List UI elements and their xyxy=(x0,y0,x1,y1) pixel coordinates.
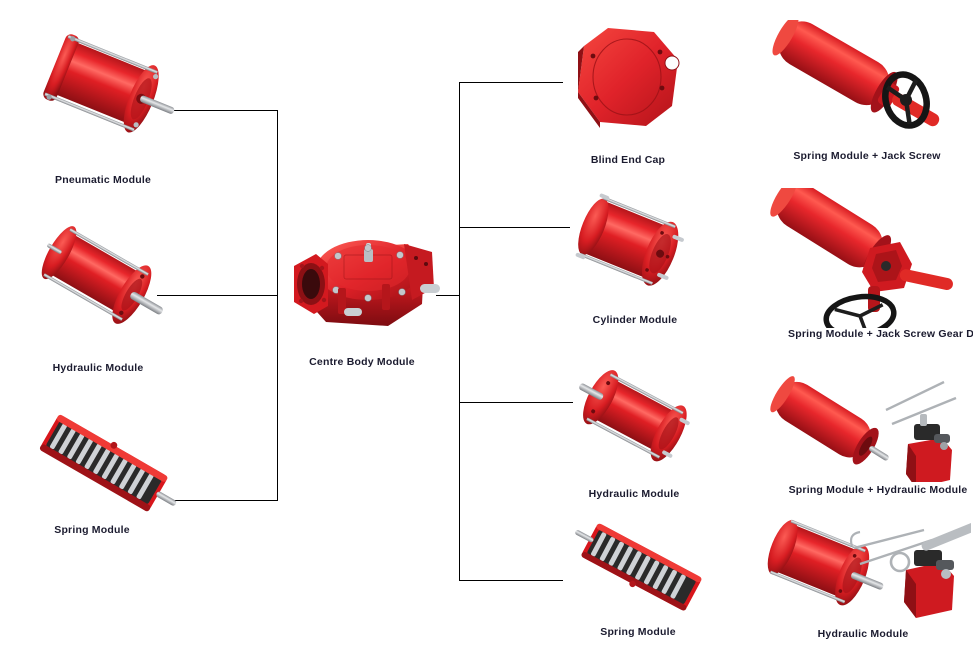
tube-gear-handwheel-icon xyxy=(752,188,962,328)
caption-spring-module-jack-screw: Spring Module + Jack Screw xyxy=(782,150,952,162)
spring-cartridge-icon xyxy=(26,410,186,520)
cylinder-hand-pump-icon xyxy=(756,506,971,624)
caption-hydraulic-module-right: Hydraulic Module xyxy=(778,628,948,640)
caption-spring-module-left: Spring Module xyxy=(12,524,172,536)
component-spring-module-jack-screw-gear-drive[interactable]: Spring Module + Jack Screw Gear Drive xyxy=(752,188,962,328)
right-branch-hydraulic xyxy=(459,402,573,403)
tube-hand-pump-icon xyxy=(758,372,968,482)
component-pneumatic-module[interactable]: Pneumatic Module xyxy=(28,22,178,162)
spring-cartridge-icon xyxy=(566,518,716,618)
cylinder-tierod-angled-icon xyxy=(28,22,178,162)
component-hydraulic-module-left[interactable]: Hydraulic Module xyxy=(26,216,176,346)
component-spring-module-left[interactable]: Spring Module xyxy=(26,410,186,520)
caption-centre-body-module: Centre Body Module xyxy=(277,356,447,368)
component-spring-module-mid[interactable]: Spring Module xyxy=(566,518,716,618)
caption-spring-module-jack-screw-gear-drive: Spring Module + Jack Screw Gear Drive xyxy=(788,328,968,340)
left-spine xyxy=(277,110,278,501)
component-blind-end-cap[interactable]: Blind End Cap xyxy=(562,18,692,143)
component-centre-body-module[interactable]: Centre Body Module xyxy=(282,222,442,352)
component-spring-module-jack-screw[interactable]: Spring Module + Jack Screw xyxy=(752,20,952,148)
left-branch-pneumatic xyxy=(171,110,278,111)
caption-hydraulic-module-left: Hydraulic Module xyxy=(18,362,178,374)
caption-blind-end-cap: Blind End Cap xyxy=(558,154,698,166)
right-spine xyxy=(459,82,460,581)
component-hydraulic-module-right[interactable]: Hydraulic Module xyxy=(756,506,971,624)
caption-cylinder-module: Cylinder Module xyxy=(570,314,700,326)
caption-pneumatic-module: Pneumatic Module xyxy=(23,174,183,186)
caption-hydraulic-module-mid: Hydraulic Module xyxy=(564,488,704,500)
right-branch-blind-end-cap xyxy=(459,82,563,83)
component-hydraulic-module-mid[interactable]: Hydraulic Module xyxy=(566,358,706,478)
octagonal-end-cap-icon xyxy=(562,18,692,143)
component-spring-module-hydraulic-module[interactable]: Spring Module + Hydraulic Module xyxy=(758,372,968,482)
centre-body-housing-icon xyxy=(282,222,442,352)
left-branch-spring xyxy=(172,500,278,501)
right-branch-spring xyxy=(459,580,563,581)
right-branch-cylinder xyxy=(459,227,570,228)
diagram-canvas: Pneumatic Module Hydraulic Module xyxy=(0,0,973,650)
cylinder-slim-rod-icon xyxy=(566,358,706,478)
component-cylinder-module[interactable]: Cylinder Module xyxy=(566,186,696,301)
cylinder-short-flanged-icon xyxy=(566,186,696,301)
tube-handwheel-icon xyxy=(752,20,952,148)
left-stub-to-centre xyxy=(254,295,278,296)
cylinder-slim-rod-icon xyxy=(26,216,176,346)
caption-spring-module-mid: Spring Module xyxy=(568,626,708,638)
caption-spring-module-hydraulic-module: Spring Module + Hydraulic Module xyxy=(788,484,968,496)
